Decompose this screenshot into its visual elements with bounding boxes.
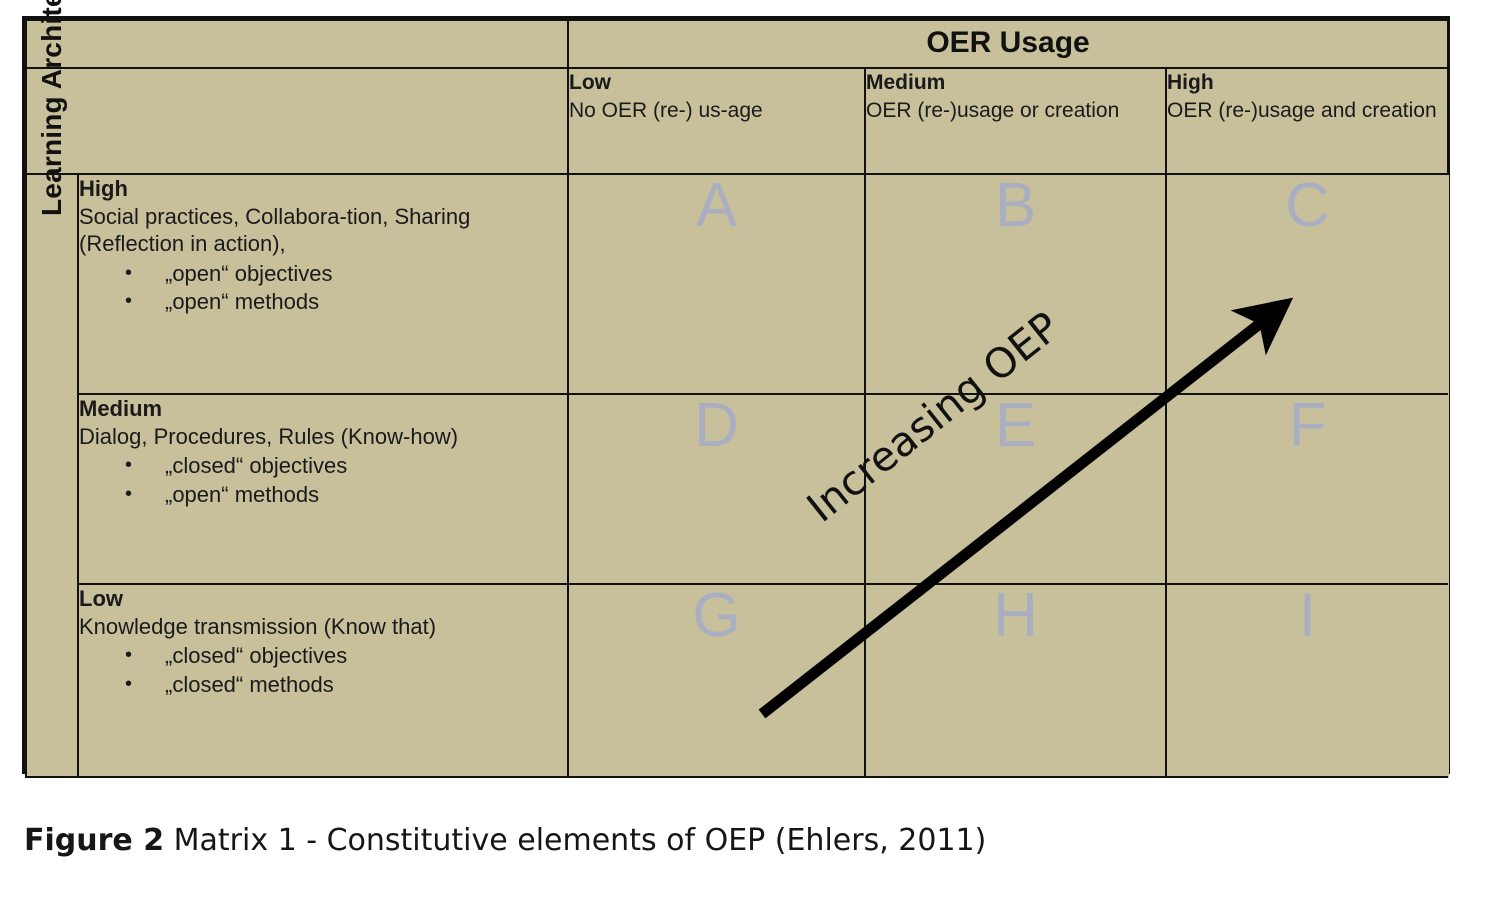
column-header-high-description: OER (re-)usage and creation	[1167, 97, 1447, 125]
list-item: • „closed“ methods	[165, 671, 567, 699]
corner-blank-cell	[26, 20, 568, 68]
row-header-high-level: High	[79, 175, 567, 203]
matrix-column-header-row: Low No OER (re-) us-age Medium OER (re-)…	[26, 68, 1448, 174]
corner-blank-cell-2	[26, 68, 568, 174]
row-header-medium-level: Medium	[79, 395, 567, 423]
row-header-low-description: Knowledge transmission (Know that)	[79, 613, 567, 641]
bullet-icon: •	[125, 642, 132, 669]
row-header-high: High Social practices, Collabora-tion, S…	[78, 174, 568, 394]
matrix-banner-row: OER Usage	[26, 20, 1448, 68]
row-header-medium-description: Dialog, Procedures, Rules (Know-how)	[79, 423, 567, 451]
oep-matrix: OER Usage Low No OER (re-) us-age Medium…	[22, 16, 1450, 774]
figure-caption-text: Matrix 1 - Constitutive elements of OEP …	[164, 823, 986, 858]
row-axis-title-cell: Learning Architecture	[26, 174, 78, 777]
list-item: • „closed“ objectives	[165, 452, 567, 480]
list-item-label: „closed“ objectives	[165, 643, 347, 668]
column-header-high-level: High	[1167, 69, 1447, 97]
bullet-icon: •	[125, 452, 132, 479]
quadrant-cell-d: D	[568, 394, 865, 584]
figure-container: OER Usage Low No OER (re-) us-age Medium…	[0, 0, 1488, 904]
column-header-low: Low No OER (re-) us-age	[568, 68, 865, 174]
list-item: • „open“ methods	[165, 288, 567, 316]
quadrant-cell-i: I	[1166, 584, 1448, 777]
row-header-high-bullets: • „open“ objectives • „open“ methods	[79, 260, 567, 316]
list-item: • „open“ objectives	[165, 260, 567, 288]
row-axis-title: Learning Architecture	[36, 166, 68, 216]
quadrant-cell-h: H	[865, 584, 1166, 777]
column-header-medium-level: Medium	[866, 69, 1165, 97]
bullet-icon: •	[125, 481, 132, 508]
figure-caption: Figure 2 Matrix 1 - Constitutive element…	[24, 823, 986, 858]
quadrant-cell-e: E	[865, 394, 1166, 584]
row-header-low: Low Knowledge transmission (Know that) •…	[78, 584, 568, 777]
column-header-low-level: Low	[569, 69, 864, 97]
row-header-medium: Medium Dialog, Procedures, Rules (Know-h…	[78, 394, 568, 584]
quadrant-cell-f: F	[1166, 394, 1448, 584]
list-item-label: „open“ methods	[165, 289, 319, 314]
quadrant-cell-g: G	[568, 584, 865, 777]
quadrant-cell-a: A	[568, 174, 865, 394]
row-header-high-description: Social practices, Collabora-tion, Sharin…	[79, 203, 567, 258]
matrix-row-medium: Medium Dialog, Procedures, Rules (Know-h…	[26, 394, 1448, 584]
figure-caption-label: Figure 2	[24, 823, 164, 858]
column-header-low-description: No OER (re-) us-age	[569, 97, 864, 125]
bullet-icon: •	[125, 260, 132, 287]
list-item-label: „open“ methods	[165, 482, 319, 507]
row-header-low-level: Low	[79, 585, 567, 613]
bullet-icon: •	[125, 288, 132, 315]
list-item: • „closed“ objectives	[165, 642, 567, 670]
column-header-medium-description: OER (re-)usage or creation	[866, 97, 1165, 125]
column-header-high: High OER (re-)usage and creation	[1166, 68, 1448, 174]
list-item-label: „open“ objectives	[165, 261, 333, 286]
list-item: • „open“ methods	[165, 481, 567, 509]
list-item-label: „closed“ objectives	[165, 453, 347, 478]
bullet-icon: •	[125, 671, 132, 698]
row-header-medium-bullets: • „closed“ objectives • „open“ methods	[79, 452, 567, 508]
list-item-label: „closed“ methods	[165, 672, 334, 697]
quadrant-cell-c: C	[1166, 174, 1448, 394]
matrix-row-low: Low Knowledge transmission (Know that) •…	[26, 584, 1448, 777]
column-header-medium: Medium OER (re-)usage or creation	[865, 68, 1166, 174]
quadrant-cell-b: B	[865, 174, 1166, 394]
row-header-low-bullets: • „closed“ objectives • „closed“ methods	[79, 642, 567, 698]
matrix-row-high: Learning Architecture High Social practi…	[26, 174, 1448, 394]
column-axis-title: OER Usage	[568, 20, 1448, 68]
matrix-table: OER Usage Low No OER (re-) us-age Medium…	[25, 19, 1449, 778]
